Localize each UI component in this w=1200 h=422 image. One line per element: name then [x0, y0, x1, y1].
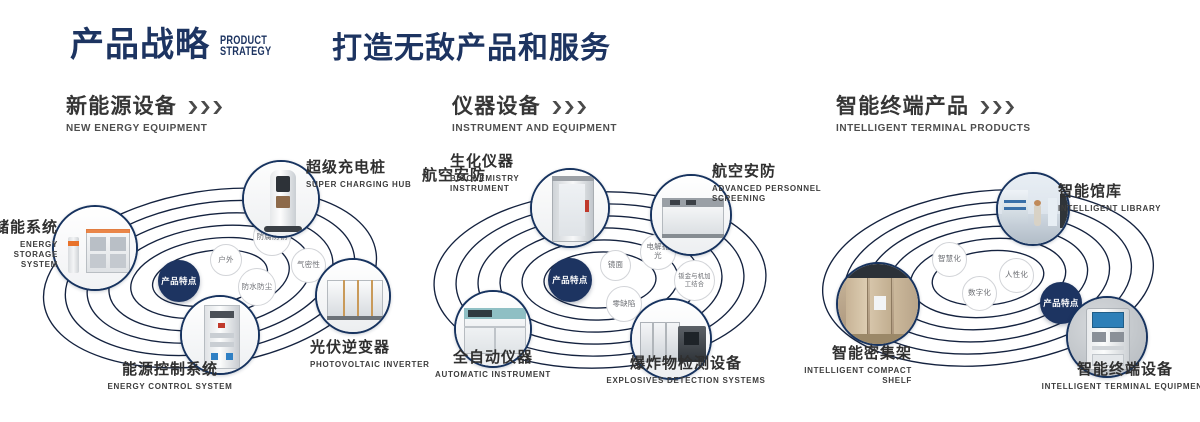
caption-intelligent-terminal-equipment: 智能终端设备 INTELLIGENT TERMINAL EQUIPMENT [1030, 362, 1200, 392]
node-intelligent-compact-shelf[interactable] [836, 262, 920, 346]
section-heading-intelligent-terminal: 智能终端产品❯❯❯ INTELLIGENT TERMINAL PRODUCTS [836, 96, 1031, 134]
feature-bubble-sheetmetal-machining: 钣金与机加工结合 [674, 260, 715, 301]
section-title-cn: 仪器设备 [452, 96, 541, 117]
page-headline: 打造无敌产品和服务 [332, 34, 611, 64]
caption-energy-control-system: 能源控制系统 ENERGY CONTROL SYSTEM [80, 362, 260, 392]
section-title-en: INSTRUMENT AND EQUIPMENT [452, 124, 617, 134]
feature-bubble-humanized: 人性化 [999, 258, 1034, 293]
diagram-group-intelligent-terminal: 智慧化 数字化 人性化 产品特点 智能馆库 INTELLIGENT [790, 150, 1190, 405]
page-title-cn: 产品战略 [70, 28, 210, 62]
feature-bubble-digital: 数字化 [962, 276, 997, 311]
caption-intelligent-library: 智能馆库 INTELLIGENT LIBRARY [1058, 184, 1198, 214]
page-title-en-line1: PRODUCT [220, 36, 271, 48]
section-title-cn: 智能终端产品 [836, 96, 969, 117]
node-photovoltaic-inverter[interactable] [315, 258, 391, 334]
caption-explosives-detection: 爆炸物检测设备 EXPLOSIVES DETECTION SYSTEMS [586, 356, 786, 386]
core-bubble: 产品特点 [548, 258, 592, 302]
chevron-right-triple-icon: ❯❯❯ [186, 99, 223, 115]
caption-intelligent-compact-shelf: 智能密集架 INTELLIGENT COMPACT SHELF [780, 346, 912, 386]
caption-automatic-instrument: 全自动仪器 AUTOMATIC INSTRUMENT [410, 350, 576, 380]
node-energy-storage-system[interactable] [52, 205, 138, 291]
chevron-right-triple-icon: ❯❯❯ [550, 99, 587, 115]
caption-biochemistry-instrument: 生化仪器 BIOCHEMISTRY INSTRUMENT [450, 154, 570, 194]
section-heading-new-energy: 新能源设备❯❯❯ NEW ENERGY EQUIPMENT [66, 96, 216, 134]
product-strategy-infographic: 产品战略 PRODUCT STRATEGY 打造无敌产品和服务 新能源设备❯❯❯… [0, 0, 1200, 422]
feature-bubble-smart: 智慧化 [932, 242, 967, 277]
feature-bubble-mirror: 镜面 [600, 250, 631, 281]
page-title-en-line2: STRATEGY [220, 47, 271, 59]
page-header: 产品战略 PRODUCT STRATEGY 打造无敌产品和服务 [0, 0, 1200, 86]
section-title-en: NEW ENERGY EQUIPMENT [66, 124, 216, 134]
chevron-right-triple-icon: ❯❯❯ [978, 99, 1015, 115]
diagram-group-instrument: 产品特点 镜面 电解抛光 零缺陷 钣金与机加工结合 航空安防 生化仪器 [400, 150, 800, 405]
feature-bubble-outdoor: 户外 [210, 244, 242, 276]
section-title-en: INTELLIGENT TERMINAL PRODUCTS [836, 124, 1031, 134]
section-title-cn: 新能源设备 [66, 96, 177, 117]
diagram-group-new-energy: 产品特点 户外 防腐防锈 防水防尘 气密性 [10, 150, 410, 405]
caption-energy-storage-system: 储能系统 ENERGY STORAGE SYSTEM [0, 220, 58, 270]
section-heading-instrument: 仪器设备❯❯❯ INSTRUMENT AND EQUIPMENT [452, 96, 617, 134]
core-bubble: 产品特点 [158, 260, 200, 302]
title-block: 产品战略 PRODUCT STRATEGY [70, 28, 284, 62]
page-title-en: PRODUCT STRATEGY [220, 36, 271, 62]
